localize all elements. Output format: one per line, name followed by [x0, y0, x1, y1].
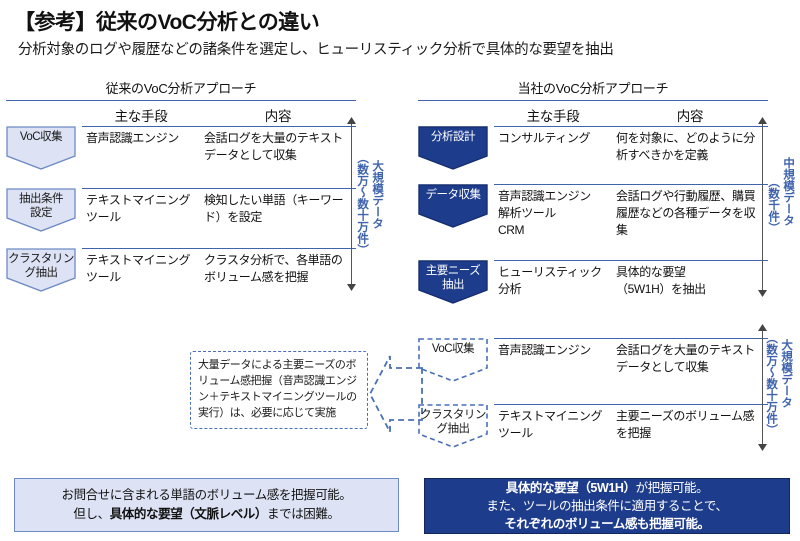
- row-content-cell: 会話ログや行動履歴、購買履歴などの各種データを収集: [612, 184, 768, 249]
- process-step-chevron: 分析設計: [418, 126, 488, 156]
- table-row: VoC収集音声認識エンジン会話ログを大量のテキストデータとして収集: [418, 338, 768, 404]
- process-step-chevron: クラスタリング抽出: [6, 248, 76, 280]
- process-step-label: 抽出条件設定: [18, 191, 64, 220]
- right-measure-top-line: [762, 118, 763, 296]
- process-step-chevron: VoC収集: [6, 126, 76, 156]
- note-left-arrow-icon: [368, 352, 424, 436]
- table-row: 抽出条件設定テキストマイニングツール検知したい単語（キーワード）を設定: [6, 188, 356, 248]
- left-measure-arrow-up-icon: [347, 117, 356, 124]
- summary-right-line2: また、ツールの抽出条件に適用することで、: [486, 497, 727, 515]
- summary-right-line1: 具体的な要望（5W1H）が把握可能。: [506, 479, 709, 497]
- right-measure-top-arrow-up-icon: [758, 117, 767, 124]
- row-means-cell: 音声認識エンジン: [82, 126, 200, 157]
- right-measure-top-sub: （数千件）: [767, 176, 779, 234]
- right-header-spacer: [418, 105, 494, 125]
- row-content-cell: 何を対象に、どのように分析すべきかを定義: [612, 126, 768, 174]
- row-divider: [494, 126, 768, 127]
- left-rows: VoC収集音声認識エンジン会話ログを大量のテキストデータとして収集抽出条件設定テ…: [6, 126, 356, 308]
- row-content-cell: 会話ログを大量のテキストデータとして収集: [612, 338, 768, 386]
- right-measure-bottom-arrow-down-icon: [758, 444, 767, 451]
- right-measure-bottom-sub: （数万～数十万件）: [765, 332, 777, 436]
- process-step-label: 分析設計: [430, 129, 476, 145]
- right-measure-bottom-line: [762, 325, 763, 450]
- row-content-cell: 検知したい単語（キーワード）を設定: [200, 188, 356, 236]
- row-means-cell: テキストマイニングツール: [82, 248, 200, 296]
- right-approach-panel: 当社のVoC分析アプローチ 主な手段 内容 分析設計コンサルティング何を対象に、…: [418, 78, 768, 464]
- summary-box-conventional: お問合せに含まれる単語のボリューム感を把握可能。 但し、具体的な要望（文脈レベル…: [14, 478, 399, 532]
- slide-root: 【参考】従来のVoC分析との違い 分析対象のログや履歴などの諸条件を選定し、ヒュ…: [0, 0, 800, 541]
- left-measure-label: 大規模データ: [371, 160, 383, 229]
- summary-right-line1-suffix: が把握可能。: [636, 481, 709, 495]
- row-means-cell: テキストマイニングツール: [494, 404, 612, 452]
- process-step-chevron: 主要ニーズ抽出: [418, 260, 488, 292]
- page-title: 【参考】従来のVoC分析との違い: [14, 6, 319, 36]
- table-row: データ収集音声認識エンジン解析ツールCRM会話ログや行動履歴、購買履歴などの各種…: [418, 184, 768, 260]
- right-panel-title: 当社のVoC分析アプローチ: [418, 78, 768, 100]
- right-panel-rule: [418, 100, 768, 101]
- left-column-header-means: 主な手段: [82, 105, 200, 125]
- row-divider: [494, 338, 768, 339]
- summary-left-line1: お問合せに含まれる単語のボリューム感を把握可能。: [61, 486, 351, 505]
- process-step-label: クラスタリング抽出: [6, 251, 76, 280]
- process-step-chevron: クラスタリング抽出: [418, 404, 488, 436]
- table-row: クラスタリング抽出テキストマイニングツール主要ニーズのボリューム感を把握: [418, 404, 768, 464]
- right-measure-bottom-arrow-up-icon: [758, 324, 767, 331]
- right-rows: 分析設計コンサルティング何を対象に、どのように分析すべきかを定義データ収集音声認…: [418, 126, 768, 464]
- summary-right-line1-bold: 具体的な要望（5W1H）: [506, 481, 636, 495]
- left-header-spacer: [6, 105, 82, 125]
- table-row: 分析設計コンサルティング何を対象に、どのように分析すべきかを定義: [418, 126, 768, 184]
- process-step-label: クラスタリング抽出: [418, 407, 488, 436]
- row-divider: [82, 248, 356, 249]
- row-divider: [82, 126, 356, 127]
- row-means-cell: コンサルティング: [494, 126, 612, 157]
- row-means-cell: 音声認識エンジン: [494, 338, 612, 369]
- left-measure-arrow-down-icon: [347, 284, 356, 291]
- page-subtitle: 分析対象のログや履歴などの諸条件を選定し、ヒューリスティック分析で具体的な要望を…: [18, 38, 614, 59]
- table-row: VoC収集音声認識エンジン会話ログを大量のテキストデータとして収集: [6, 126, 356, 188]
- left-panel-rule: [6, 100, 356, 101]
- row-content-cell: 主要ニーズのボリューム感を把握: [612, 404, 768, 452]
- row-content-cell: 具体的な要望（5W1H）を抽出: [612, 260, 768, 308]
- row-divider: [494, 260, 768, 261]
- process-step-label: VoC収集: [431, 341, 475, 357]
- summary-left-line2-prefix: 但し、: [73, 507, 109, 521]
- row-divider: [494, 184, 768, 185]
- left-column-header-content: 内容: [200, 105, 356, 125]
- summary-box-ours: 具体的な要望（5W1H）が把握可能。 また、ツールの抽出条件に適用することで、 …: [424, 478, 790, 534]
- summary-left-line2-suffix: までは困難。: [267, 507, 340, 521]
- right-column-headers: 主な手段 内容: [418, 105, 768, 125]
- left-approach-panel: 従来のVoC分析アプローチ 主な手段 内容 VoC収集音声認識エンジン会話ログを…: [6, 78, 356, 308]
- row-divider: [82, 188, 356, 189]
- summary-right-line3: それぞれのボリューム感も把握可能。: [504, 515, 709, 533]
- right-measure-top-label: 中規模データ: [782, 157, 794, 226]
- process-step-label: 主要ニーズ抽出: [425, 263, 481, 292]
- left-column-headers: 主な手段 内容: [6, 105, 356, 125]
- summary-right-line3-bold: それぞれのボリューム感も把握可能。: [504, 517, 709, 531]
- row-content-cell: 会話ログを大量のテキストデータとして収集: [200, 126, 356, 174]
- right-measure-bottom-label: 大規模データ: [780, 339, 792, 408]
- right-measure-top-arrow-down-icon: [758, 290, 767, 297]
- optional-step-note: 大量データによる主要ニーズのボリューム感把握（音声認識エンジン＋テキストマイニン…: [190, 351, 368, 429]
- row-means-cell: テキストマイニングツール: [82, 188, 200, 236]
- process-step-chevron: データ収集: [418, 184, 488, 214]
- process-step-label: データ収集: [425, 187, 482, 203]
- left-panel-title: 従来のVoC分析アプローチ: [6, 78, 356, 100]
- row-means-cell: ヒューリスティック分析: [494, 260, 612, 308]
- right-column-header-means: 主な手段: [494, 105, 612, 125]
- summary-left-line2: 但し、具体的な要望（文脈レベル）までは困難。: [73, 505, 339, 524]
- row-means-cell: 音声認識エンジン解析ツールCRM: [494, 184, 612, 249]
- left-measure-line: [351, 118, 352, 290]
- process-step-chevron: VoC収集: [418, 338, 488, 368]
- process-step-chevron: 抽出条件設定: [6, 188, 76, 220]
- left-measure-sub: （数万～数十万件）: [356, 152, 368, 256]
- row-divider: [494, 404, 768, 405]
- summary-left-line2-bold: 具体的な要望（文脈レベル）: [110, 507, 267, 521]
- table-row: 主要ニーズ抽出ヒューリスティック分析具体的な要望（5W1H）を抽出: [418, 260, 768, 322]
- right-column-header-content: 内容: [612, 105, 768, 125]
- table-row: クラスタリング抽出テキストマイニングツールクラスタ分析で、各単語のボリューム感を…: [6, 248, 356, 308]
- process-step-label: VoC収集: [19, 129, 63, 145]
- row-content-cell: クラスタ分析で、各単語のボリューム感を把握: [200, 248, 356, 296]
